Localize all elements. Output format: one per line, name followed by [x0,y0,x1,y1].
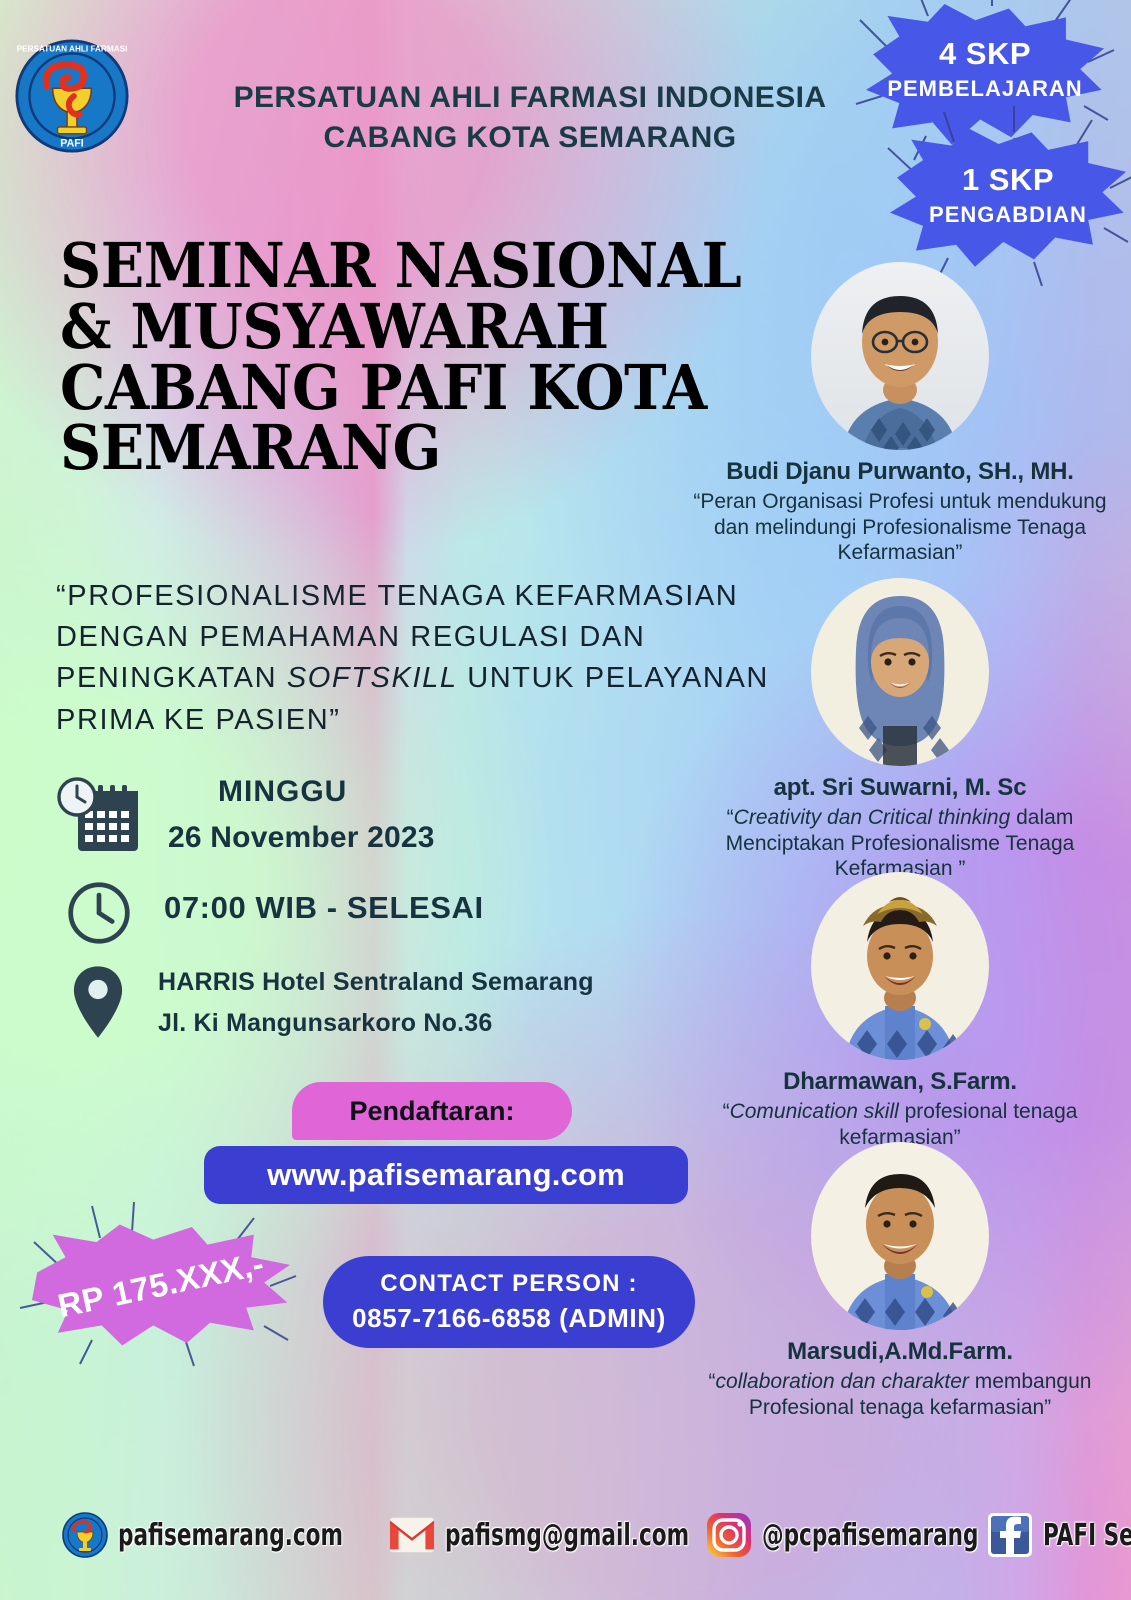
registration-label: Pendaftaran: [349,1096,514,1127]
price-badge: RP 175.XXX,- [32,1222,290,1348]
footer-instagram-item[interactable]: @pcpafisemarang [706,1512,1033,1558]
org-line-2: CABANG KOTA SEMARANG [150,118,910,158]
org-line-1: PERSATUAN AHLI FARMASI INDONESIA [150,78,910,118]
speaker-card: Budi Djanu Purwanto, SH., MH. “Peran Org… [690,262,1110,566]
pafi-logo-icon [62,1512,108,1558]
speaker-card: Marsudi,A.Md.Farm. “collaboration dan ch… [690,1142,1110,1420]
event-address: Jl. Ki Mangunsarkoro No.36 [158,1009,594,1038]
speaker-photo [811,262,989,450]
svg-text:PERSATUAN AHLI FARMASI: PERSATUAN AHLI FARMASI [17,45,128,54]
speaker-name: apt. Sri Suwarni, M. Sc [690,774,1110,802]
speaker-name: Dharmawan, S.Farm. [690,1068,1110,1096]
seminar-theme-quote: “PROFESIONALISME TENAGA KEFARMASIAN DENG… [56,576,786,741]
speaker-topic-pre: “ [709,1370,716,1393]
event-date-text: MINGGU 26 November 2023 [168,775,435,855]
speaker-topic-pre: “ [723,1100,730,1123]
speaker-card: Dharmawan, S.Farm. “Comunication skill p… [690,872,1110,1150]
skp-amount: 1 SKP [890,162,1126,198]
footer-email-text: pafismg@gmail.com [445,1518,689,1553]
footer-facebook-text: PAFI Semarang [1043,1518,1131,1553]
title-line-4: SEMARANG [60,418,686,479]
event-day: MINGGU [218,775,435,809]
title-line-2: & MUSYAWARAH [60,297,686,358]
instagram-icon [706,1512,752,1558]
speaker-name: Marsudi,A.Md.Farm. [690,1338,1110,1366]
event-date-row: MINGGU 26 November 2023 [52,775,435,859]
skp-badge-label: 4 SKP PEMBELAJARAN [866,4,1104,102]
title-line-1: SEMINAR NASIONAL [60,236,686,297]
speaker-topic: “Creativity dan Critical thinking dalam … [690,805,1110,882]
map-pin-icon [66,960,130,1044]
skp-category: PENGABDIAN [890,202,1126,228]
theme-emphasis: SOFTSKILL [287,662,458,694]
event-location-row: HARRIS Hotel Sentraland Semarang Jl. Ki … [66,960,594,1044]
clock-icon [60,878,138,948]
event-date: 26 November 2023 [168,821,435,855]
poster-main-title: SEMINAR NASIONAL & MUSYAWARAH CABANG PAF… [60,236,686,479]
svg-text:PAFI: PAFI [60,137,83,149]
speaker-topic-pre: “Peran Organisasi Profesi untuk mendukun… [693,490,1106,564]
speaker-photo [811,1142,989,1330]
skp-amount: 4 SKP [866,36,1104,72]
footer-email-item[interactable]: pafismg@gmail.com [389,1512,750,1558]
footer-website-text: pafisemarang.com [118,1518,343,1553]
registration-label-pill: Pendaftaran: [292,1082,572,1140]
gmail-icon [389,1512,435,1558]
contact-label: CONTACT PERSON : [380,1270,637,1298]
speaker-card: apt. Sri Suwarni, M. Sc “Creativity dan … [690,578,1110,882]
skp-badge-pengabdian: 1 SKP PENGABDIAN [890,128,1126,274]
calendar-clock-icon [52,775,144,859]
registration-website-button[interactable]: www.pafisemarang.com [204,1146,688,1204]
event-time-row: 07:00 WIB - SELESAI [60,878,484,948]
facebook-icon [987,1512,1033,1558]
speaker-name: Budi Djanu Purwanto, SH., MH. [690,458,1110,486]
speaker-photo [811,872,989,1060]
organization-header: PERSATUAN AHLI FARMASI INDONESIA CABANG … [150,78,910,157]
title-line-3: CABANG PAFI KOTA [60,358,686,419]
footer-website-item[interactable]: pafisemarang.com [62,1512,399,1558]
price-text: RP 175.XXX,- [22,1197,301,1374]
speaker-topic-italic: collaboration dan charakter [716,1370,969,1393]
speaker-topic-italic: Comunication skill [730,1100,899,1123]
skp-category: PEMBELAJARAN [866,76,1104,102]
event-location-text: HARRIS Hotel Sentraland Semarang Jl. Ki … [158,960,594,1038]
speaker-topic: “collaboration dan charakter membangun P… [690,1369,1110,1420]
speaker-topic-italic: Creativity dan Critical thinking [734,806,1011,829]
contact-person-pill[interactable]: CONTACT PERSON : 0857-7166-6858 (ADMIN) [323,1256,695,1348]
contact-number: 0857-7166-6858 (ADMIN) [352,1303,666,1334]
event-venue: HARRIS Hotel Sentraland Semarang [158,968,594,997]
footer-facebook-item[interactable]: PAFI Semarang [987,1512,1131,1558]
speaker-photo [811,578,989,766]
speaker-topic: “Peran Organisasi Profesi untuk mendukun… [690,489,1110,566]
registration-website-text: www.pafisemarang.com [267,1157,625,1193]
footer-contact-bar: pafisemarang.com pafismg@gmail.com [0,1490,1131,1580]
poster-canvas: PAFI PERSATUAN AHLI FARMASI PERSATUAN AH… [0,0,1131,1600]
footer-instagram-text: @pcpafisemarang [762,1518,979,1553]
skp-badge-label: 1 SKP PENGABDIAN [890,128,1126,228]
speaker-topic-pre: “ [727,806,734,829]
pafi-logo-icon: PAFI PERSATUAN AHLI FARMASI [14,38,130,154]
event-time-text: 07:00 WIB - SELESAI [164,878,484,926]
